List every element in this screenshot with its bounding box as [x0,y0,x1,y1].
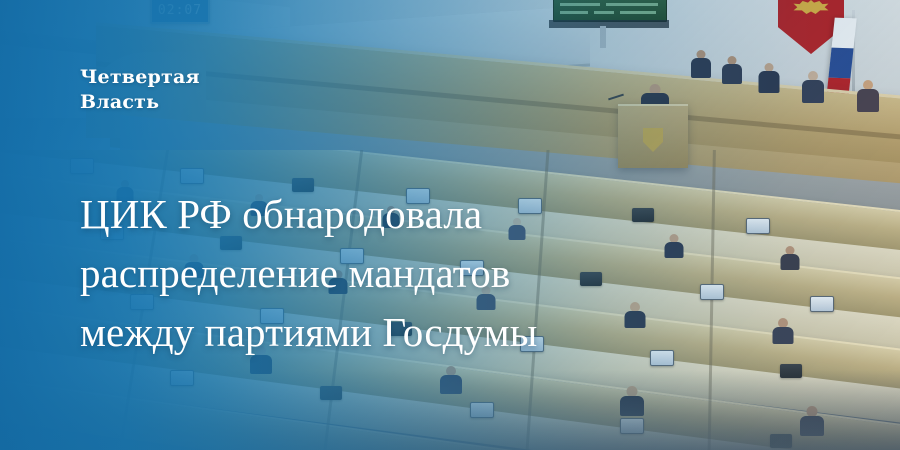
headline-line-3: между партиями Госдумы [80,303,820,362]
site-logo-line-1: Четвертая [80,66,200,88]
site-logo[interactable]: Четвертая Власть [80,65,340,115]
headline-line-1: ЦИК РФ обнародовала [80,185,820,244]
article-headline: ЦИК РФ обнародовала распределение мандат… [80,185,820,362]
site-logo-line-2: Власть [80,90,340,115]
article-cover-card: 02:07 [0,0,900,450]
headline-line-2: распределение мандатов [80,244,820,303]
cover-content: Четвертая Власть ЦИК РФ обнародовала рас… [0,0,900,450]
